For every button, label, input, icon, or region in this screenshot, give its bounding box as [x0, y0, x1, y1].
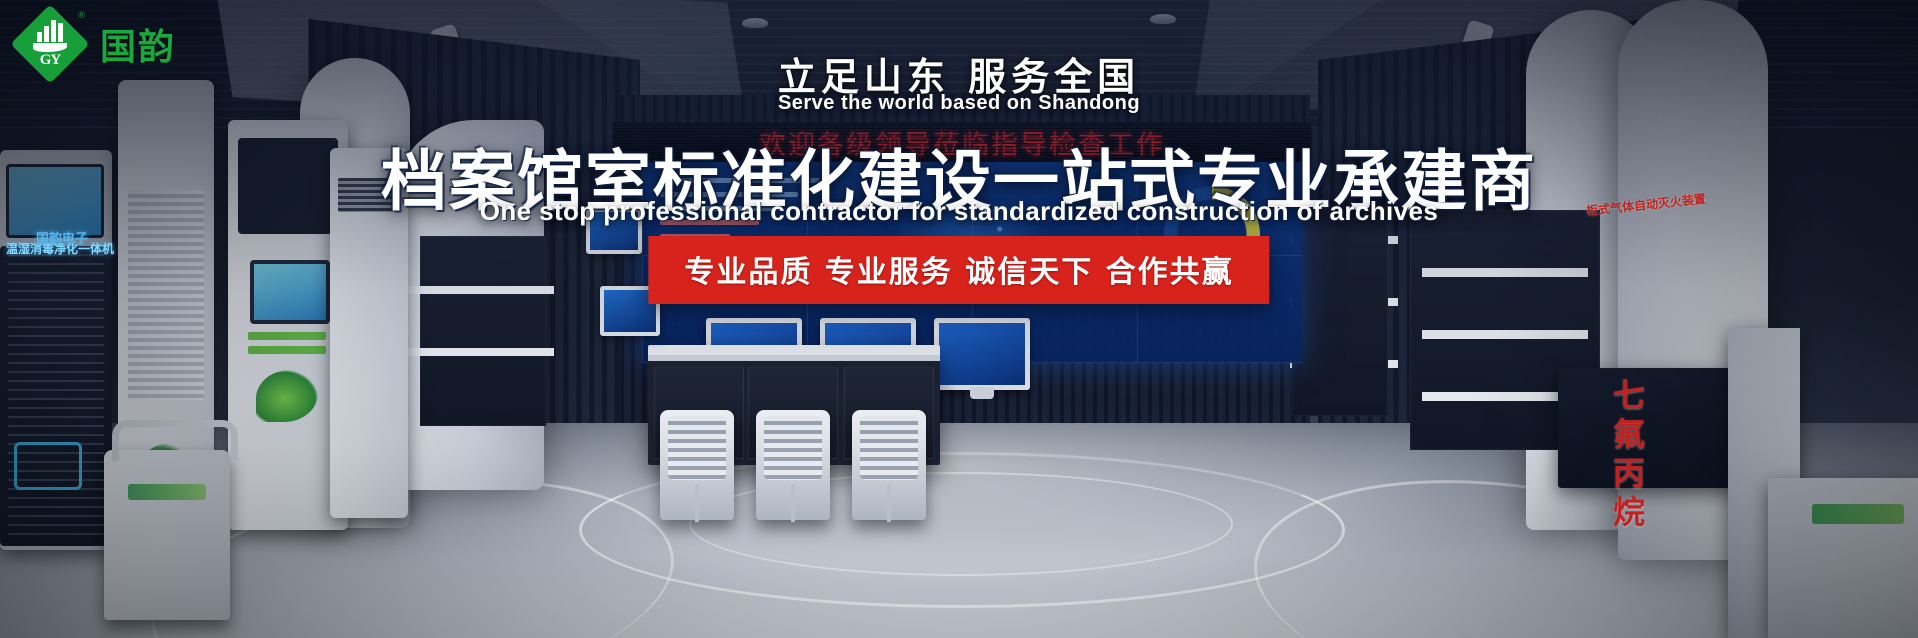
hero-subtitle-en: One stop professional contractor for sta… — [0, 196, 1918, 227]
label-heptafluoropropane: 七氟丙烷 — [1604, 378, 1650, 534]
label-left-brand: 国韵电子 — [36, 228, 88, 247]
hero-banner: 欢迎各级领导莅临指导检查工作 — [0, 0, 1918, 638]
slogan-text: 专业品质 专业服务 诚信天下 合作共赢 — [684, 247, 1233, 291]
registered-trademark-icon: ® — [78, 10, 85, 20]
banner-overlay: 柜式气体自动灭火装置 七氟丙烷 温湿消毒净化一体机 国韵电子 GY ® 国韵 立… — [0, 0, 1918, 638]
slogan-banner: 专业品质 专业服务 诚信天下 合作共赢 — [648, 236, 1269, 304]
hero-headline-en: Serve the world based on Shandong — [0, 92, 1918, 115]
